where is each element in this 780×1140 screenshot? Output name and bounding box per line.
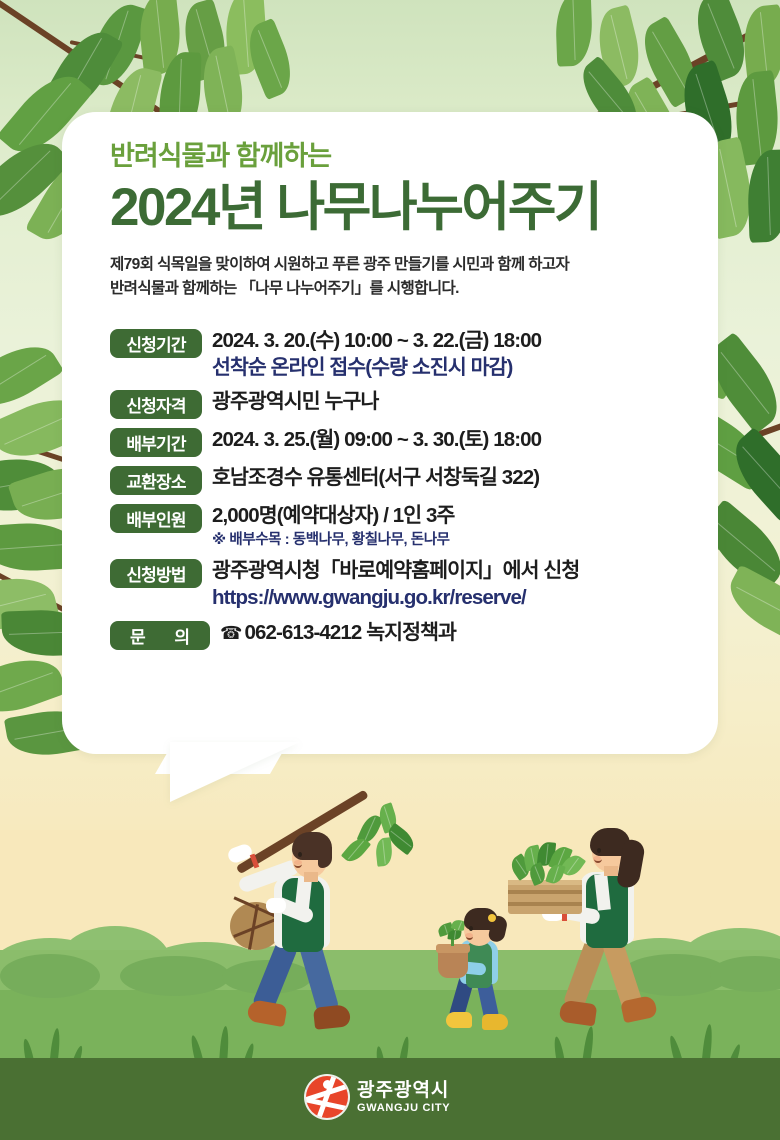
gwangju-city-emblem-icon [306, 1076, 348, 1118]
bush [120, 956, 230, 996]
emblem-head-dot [323, 1080, 332, 1089]
contact-value: 062-613-4212 녹지정책과 [245, 621, 456, 644]
poster-intro: 제79회 식목일을 맞이하여 시원하고 푸른 광주 만들기를 시민과 함께 하고… [110, 253, 710, 301]
child-boot-back [446, 1012, 472, 1028]
intro-line-1: 제79회 식목일을 맞이하여 시원하고 푸른 광주 만들기를 시민과 함께 하고… [110, 253, 710, 277]
info-row-application-period: 신청기간 2024. 3. 20.(수) 10:00 ~ 3. 22.(금) 1… [110, 327, 710, 381]
telephone-icon: ☎ [220, 623, 242, 643]
row-values: ☎062-613-4212 녹지정책과 [220, 619, 456, 646]
poster-root: 반려식물과 함께하는 2024년 나무나누어주기 제79회 식목일을 맞이하여 … [0, 0, 780, 1140]
leaf [555, 0, 594, 67]
gwangju-city-logo: 광주광역시 GWANGJU CITY [306, 1076, 450, 1118]
info-row-exchange-location: 교환장소 호남조경수 유통센터(서구 서창둑길 322) [110, 464, 710, 495]
logo-text-block: 광주광역시 GWANGJU CITY [357, 1081, 450, 1114]
row-values: 2024. 3. 20.(수) 10:00 ~ 3. 22.(금) 18:00 … [212, 327, 541, 381]
row-label-badge: 교환장소 [110, 466, 202, 495]
poster-content: 반려식물과 함께하는 2024년 나무나누어주기 제79회 식목일을 맞이하여 … [110, 140, 710, 657]
row-label-badge: 문 의 [110, 621, 210, 650]
row-label-badge: 신청기간 [110, 329, 202, 358]
logo-text-english: GWANGJU CITY [357, 1103, 450, 1114]
child-eye [469, 926, 473, 931]
leaf [746, 149, 780, 242]
leaf [223, 0, 269, 75]
man-glove-holding [266, 898, 286, 913]
row-value-wrap: ☎062-613-4212 녹지정책과 [220, 619, 456, 646]
row-label-badge: 배부인원 [110, 504, 202, 533]
branch-stem [70, 40, 218, 75]
leaf [686, 0, 756, 83]
row-value: 2024. 3. 20.(수) 10:00 ~ 3. 22.(금) 18:00 [212, 327, 541, 354]
child-hair-tie [488, 914, 496, 922]
poster-title: 2024년 나무나누어주기 [110, 178, 710, 237]
leaf [84, 0, 151, 92]
leaf [591, 5, 647, 90]
man-hair-back [318, 840, 332, 868]
leaf [720, 564, 780, 645]
row-value: 광주광역시민 누구나 [212, 388, 378, 415]
sapling-leaf [375, 837, 394, 867]
info-row-how-to-apply: 신청방법 광주광역시청「바로예약홈페이지」에서 신청 https://www.g… [110, 557, 710, 611]
row-value: 호남조경수 유통센터(서구 서창둑길 322) [212, 464, 539, 491]
info-row-list: 신청기간 2024. 3. 20.(수) 10:00 ~ 3. 22.(금) 1… [110, 327, 710, 649]
man-boot-front [313, 1004, 351, 1030]
row-value: 2,000명(예약대상자) / 1인 3주 [212, 502, 455, 529]
info-row-quantity: 배부인원 2,000명(예약대상자) / 1인 3주 ※ 배부수목 : 동백나무… [110, 502, 710, 550]
row-note: ※ 배부수목 : 동백나무, 황칠나무, 돈나무 [212, 531, 455, 550]
crate-slat [508, 902, 582, 906]
logo-text-korean: 광주광역시 [357, 1081, 450, 1100]
character-man [230, 810, 430, 1040]
leaf [722, 427, 780, 523]
man-neck [304, 872, 318, 882]
row-values: 2024. 3. 25.(월) 09:00 ~ 3. 30.(토) 18:00 [212, 426, 541, 453]
woman-boot-back [559, 1000, 598, 1027]
leaf [40, 21, 124, 123]
row-values: 광주광역시민 누구나 [212, 388, 378, 415]
man-boot-back [246, 999, 287, 1027]
row-value: 광주광역시청「바로예약홈페이지」에서 신청 [212, 557, 579, 584]
intro-line-2: 반려식물과 함께하는 「나무 나누어주기」를 시행합니다. [110, 277, 710, 301]
child-boot-front [482, 1014, 508, 1030]
leaf [740, 4, 780, 88]
bush [0, 954, 100, 998]
man-eye [298, 852, 302, 857]
leaf [0, 568, 60, 640]
crate-slat [508, 890, 582, 894]
leaf [0, 451, 65, 519]
seedling-crate [508, 882, 582, 914]
info-row-contact: 문 의 ☎062-613-4212 녹지정책과 [110, 619, 710, 650]
leaf [731, 70, 780, 166]
row-label-badge: 신청자격 [110, 390, 202, 419]
leaf [0, 648, 67, 725]
character-child [440, 900, 530, 1040]
woman-neck [604, 866, 618, 876]
info-row-eligibility: 신청자격 광주광역시민 누구나 [110, 388, 710, 419]
leaf [136, 0, 184, 76]
pot-sprout-leaf [447, 929, 461, 941]
leaf [176, 0, 233, 82]
leaf [0, 332, 64, 420]
poster-subtitle: 반려식물과 함께하는 [110, 140, 710, 174]
speech-bubble-tail-point [170, 742, 300, 802]
character-woman [530, 810, 720, 1040]
row-label-badge: 배부기간 [110, 428, 202, 457]
woman-eye [597, 848, 601, 853]
branch-stem [0, 0, 182, 128]
row-value: 2024. 3. 25.(월) 09:00 ~ 3. 30.(토) 18:00 [212, 426, 541, 453]
row-subvalue: 선착순 온라인 접수(수량 소진시 마감) [212, 354, 541, 381]
row-values: 2,000명(예약대상자) / 1인 3주 ※ 배부수목 : 동백나무, 황칠나… [212, 502, 455, 550]
reservation-url-link[interactable]: https://www.gwangju.go.kr/reserve/ [212, 584, 579, 611]
leaf [239, 18, 300, 100]
info-row-distribution-period: 배부기간 2024. 3. 25.(월) 09:00 ~ 3. 30.(토) 1… [110, 426, 710, 457]
row-values: 광주광역시청「바로예약홈페이지」에서 신청 https://www.gwangj… [212, 557, 579, 611]
row-values: 호남조경수 유통센터(서구 서창둑길 322) [212, 464, 539, 491]
row-label-badge: 신청방법 [110, 559, 202, 588]
leaf [632, 16, 709, 109]
